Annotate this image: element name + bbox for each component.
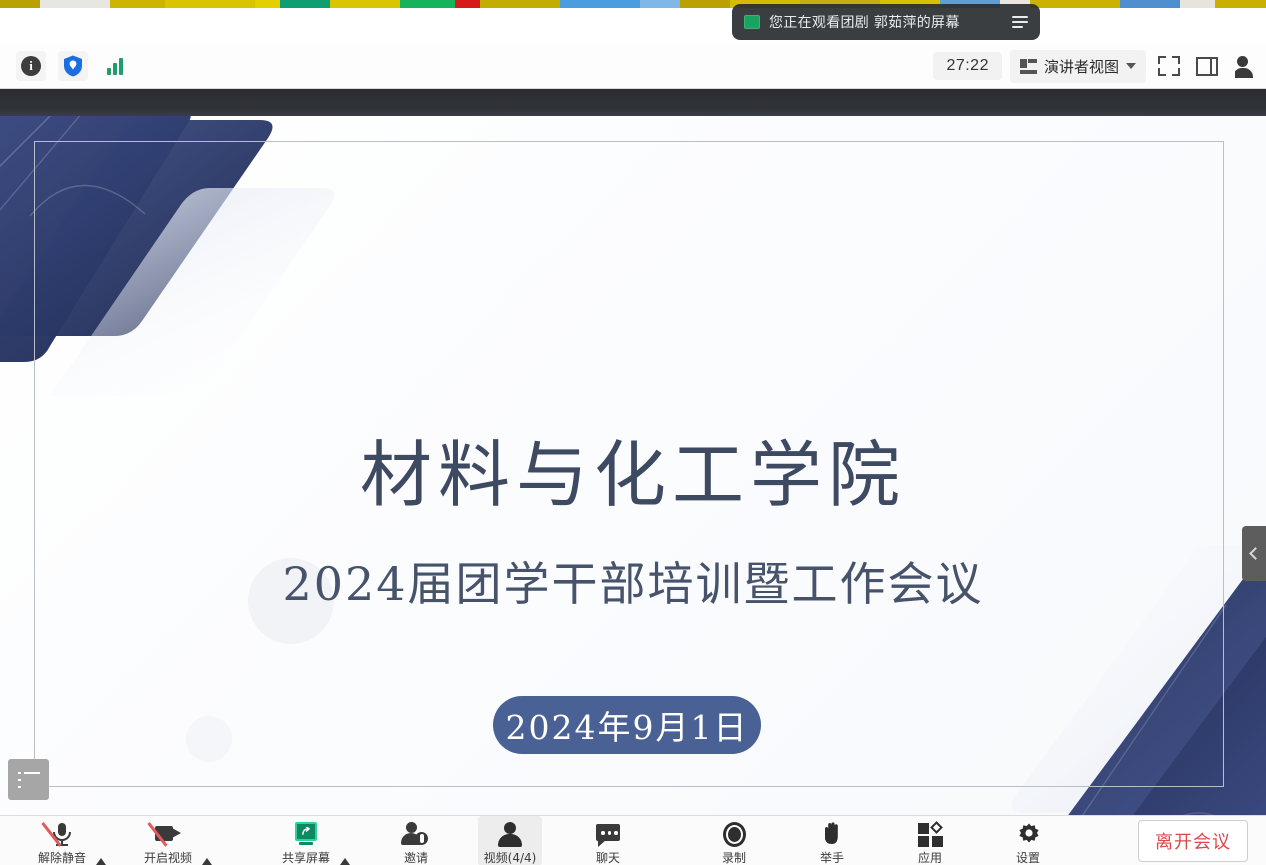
gear-glyph (1017, 822, 1041, 846)
raise-hand-label: 举手 (820, 849, 844, 865)
record-label: 录制 (722, 849, 746, 865)
video-toggle-button[interactable]: 开启视频 (136, 816, 200, 865)
slide-subtitle: 2024届团学干部培训暨工作会议 (0, 548, 1266, 614)
share-arrow-glyph (302, 827, 311, 836)
split-view-icon (1196, 57, 1218, 76)
participant-icon (1235, 54, 1255, 78)
participant-strip-button[interactable] (1230, 51, 1260, 81)
share-options-caret[interactable] (340, 858, 350, 865)
top-toolbar: i 27:22 演讲者视图 (0, 44, 1266, 89)
fullscreen-button[interactable] (1154, 51, 1184, 81)
record-button[interactable]: 录制 (702, 816, 766, 865)
mute-toggle-label: 解除静音 (38, 849, 86, 865)
speaker-view-icon (1020, 59, 1037, 74)
share-screen-icon (291, 821, 321, 847)
raise-hand-button[interactable]: 举手 (800, 816, 864, 865)
participants-icon (495, 821, 525, 847)
desktop-background-strip (0, 0, 1266, 8)
split-view-button[interactable] (1192, 51, 1222, 81)
camera-off-icon (153, 821, 183, 847)
apps-label: 应用 (918, 849, 942, 865)
chat-button[interactable]: 聊天 (576, 816, 640, 865)
shared-screen-letterbox (0, 89, 1266, 116)
settings-gear-icon (1013, 821, 1043, 847)
share-screen-label: 共享屏幕 (282, 849, 330, 865)
annotation-list-button[interactable] (8, 759, 49, 800)
settings-label: 设置 (1016, 849, 1040, 865)
video-toggle-label: 开启视频 (144, 849, 192, 865)
raise-hand-icon (817, 821, 847, 847)
raise-hand-glyph (823, 822, 841, 846)
signal-strength-icon (107, 57, 123, 75)
viewing-screen-banner[interactable]: 您正在观看团剧 郭茹萍的屏幕 (732, 4, 1040, 40)
invite-label: 邀请 (404, 849, 428, 865)
view-mode-label: 演讲者视图 (1044, 56, 1119, 77)
network-quality-button[interactable] (100, 51, 130, 81)
list-outline-icon (18, 772, 40, 788)
screen-share-icon (744, 15, 760, 29)
shield-security-icon (63, 55, 83, 77)
collapse-panel-button[interactable] (1242, 526, 1266, 581)
top-toolbar-left-group: i (0, 51, 130, 81)
settings-button[interactable]: 设置 (996, 816, 1060, 865)
video-options-caret[interactable] (202, 858, 212, 865)
record-icon (719, 821, 749, 847)
participants-button[interactable]: 视频(4/4) (478, 816, 542, 865)
viewing-banner-text: 您正在观看团剧 郭茹萍的屏幕 (769, 12, 1003, 32)
view-mode-selector[interactable]: 演讲者视图 (1010, 50, 1146, 83)
meeting-timer: 27:22 (933, 52, 1002, 80)
microphone-muted-icon (47, 821, 77, 847)
fullscreen-icon (1158, 56, 1180, 76)
invite-button[interactable]: 邀请 (384, 816, 448, 865)
meeting-window: 您正在观看团剧 郭茹萍的屏幕 i 27:22 演讲者视图 (0, 0, 1266, 865)
audio-options-caret[interactable] (96, 858, 106, 865)
slide-date-badge: 2024年9月1日 (493, 696, 761, 754)
security-button[interactable] (58, 51, 88, 81)
chevron-down-icon (1126, 63, 1136, 69)
meeting-info-button[interactable]: i (16, 51, 46, 81)
hamburger-menu-icon[interactable] (1012, 16, 1028, 28)
leave-meeting-button[interactable]: 离开会议 (1138, 820, 1248, 862)
chat-bubble-icon (593, 821, 623, 847)
chat-label: 聊天 (596, 849, 620, 865)
top-toolbar-right-group: 27:22 演讲者视图 (933, 50, 1266, 83)
chevron-left-icon (1249, 547, 1262, 560)
shared-screen-area: 材料与化工学院 2024届团学干部培训暨工作会议 2024年9月1日 (0, 89, 1266, 815)
mute-toggle-button[interactable]: 解除静音 (30, 816, 94, 865)
participants-label: 视频(4/4) (484, 849, 537, 865)
bottom-toolbar: 解除静音 开启视频 共享屏幕 (0, 815, 1266, 865)
share-screen-button[interactable]: 共享屏幕 (274, 816, 338, 865)
info-icon: i (21, 56, 41, 76)
invite-user-icon (401, 821, 431, 847)
slide-title: 材料与化工学院 (0, 416, 1266, 521)
apps-grid-icon (915, 821, 945, 847)
presentation-slide: 材料与化工学院 2024届团学干部培训暨工作会议 2024年9月1日 (0, 116, 1266, 815)
apps-button[interactable]: 应用 (898, 816, 962, 865)
